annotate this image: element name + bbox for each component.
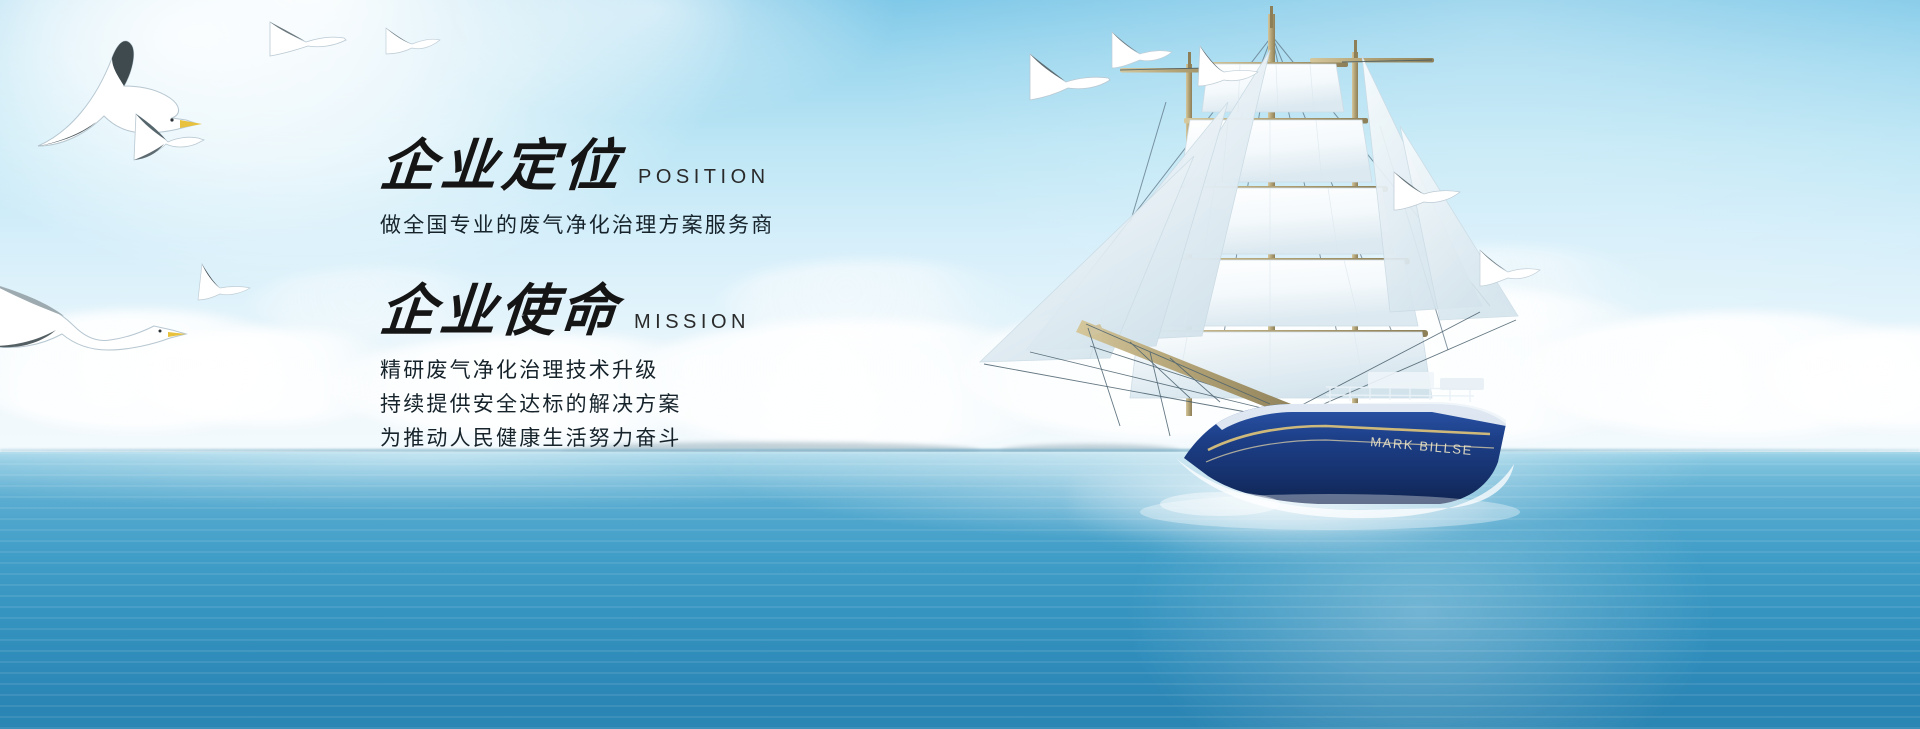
headline-row-position: 企业定位 POSITION [380,138,1000,195]
headline-row-mission: 企业使命 MISSION [380,283,1000,340]
subline-text: 精研废气净化治理技术升级 [380,354,1000,388]
sea-background [0,452,1920,729]
sea-ripples [0,452,1920,729]
headline-cn-position: 企业定位 [378,138,627,195]
subline-text: 做全国专业的废气净化治理方案服务商 [380,209,1000,243]
subline-mission: 精研废气净化治理技术升级 持续提供安全达标的解决方案 为推动人民健康生活努力奋斗 [380,354,1000,456]
subline-position: 做全国专业的废气净化治理方案服务商 [380,209,1000,243]
hero-banner: MARK BILLSE [0,0,1920,729]
subline-text: 持续提供安全达标的解决方案 [380,388,1000,422]
headline-en-mission: MISSION [634,311,750,340]
headline-cn-mission: 企业使命 [378,283,623,340]
copy-block-position: 企业定位 POSITION 做全国专业的废气净化治理方案服务商 [380,138,1000,243]
sea-sun-glare [0,452,1920,729]
copy-block-mission: 企业使命 MISSION 精研废气净化治理技术升级 持续提供安全达标的解决方案 … [380,283,1000,456]
headline-en-position: POSITION [638,166,770,195]
subline-text: 为推动人民健康生活努力奋斗 [380,422,1000,456]
banner-copy: 企业定位 POSITION 做全国专业的废气净化治理方案服务商 企业使命 MIS… [380,138,1000,456]
